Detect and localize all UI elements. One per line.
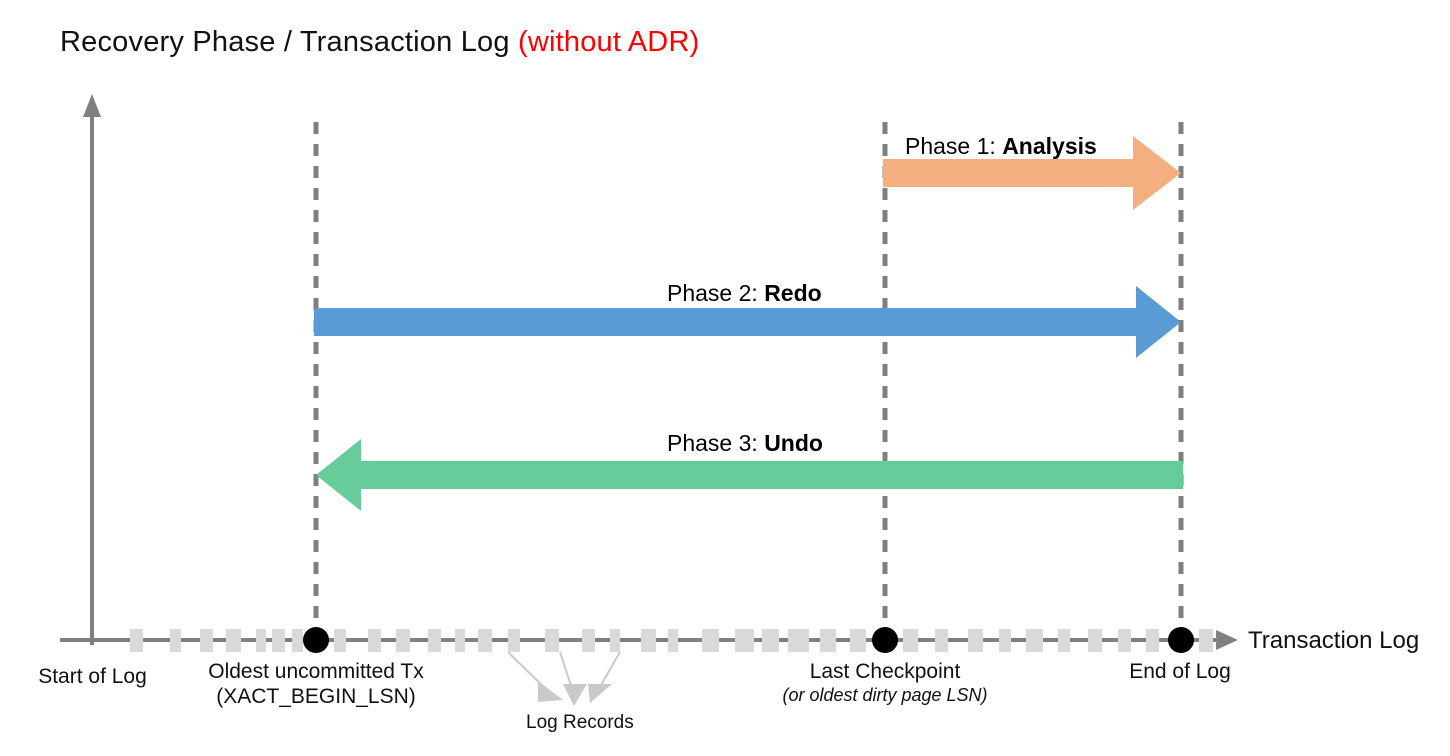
phase-3-name: Undo	[764, 430, 823, 456]
phase-2-name: Redo	[764, 280, 822, 306]
phase-2-prefix: Phase 2:	[667, 280, 764, 306]
marker-label-start-of-log-text: Start of Log	[38, 665, 147, 688]
phase-3-label: Phase 3: Undo	[667, 430, 823, 457]
marker-label-last-checkpoint-text: Last Checkpoint	[810, 660, 961, 683]
marker-label-oldest-uncommitted-tx: Oldest uncommitted Tx (XACT_BEGIN_LSN)	[176, 660, 456, 710]
marker-label-end-of-log: End of Log	[1085, 660, 1275, 684]
marker-sublabel-dirty-page-lsn: (or oldest dirty page LSN)	[765, 684, 1005, 707]
marker-dot-last-checkpoint	[872, 627, 898, 653]
marker-label-start-of-log: Start of Log	[0, 665, 185, 689]
phase-2-label: Phase 2: Redo	[667, 280, 822, 307]
page-title: Recovery Phase / Transaction Log (withou…	[60, 26, 699, 59]
marker-label-oldest-uncommitted-tx-text: Oldest uncommitted Tx	[208, 660, 424, 683]
marker-sublabel-xact-begin-lsn: (XACT_BEGIN_LSN)	[176, 684, 456, 710]
page-title-accent: (without ADR)	[518, 26, 700, 58]
phase-1-name: Analysis	[1002, 133, 1097, 159]
page-title-main: Recovery Phase / Transaction Log	[60, 26, 518, 58]
marker-dot-oldest-uncommitted-tx	[303, 627, 329, 653]
marker-label-last-checkpoint: Last Checkpoint (or oldest dirty page LS…	[765, 660, 1005, 707]
diagram-canvas	[0, 0, 1450, 756]
phase-3-prefix: Phase 3:	[667, 430, 764, 456]
marker-dot-end-of-log	[1168, 627, 1194, 653]
x-axis-label: Transaction Log	[1248, 627, 1419, 655]
log-records-annotation: Log Records	[526, 712, 634, 734]
phase-1-label: Phase 1: Analysis	[905, 133, 1097, 160]
log-records-callout-arrows	[508, 652, 620, 706]
vertical-axis	[83, 94, 101, 645]
guide-lines	[316, 122, 1181, 632]
phase-1-prefix: Phase 1:	[905, 133, 1002, 159]
marker-label-end-of-log-text: End of Log	[1129, 660, 1231, 683]
